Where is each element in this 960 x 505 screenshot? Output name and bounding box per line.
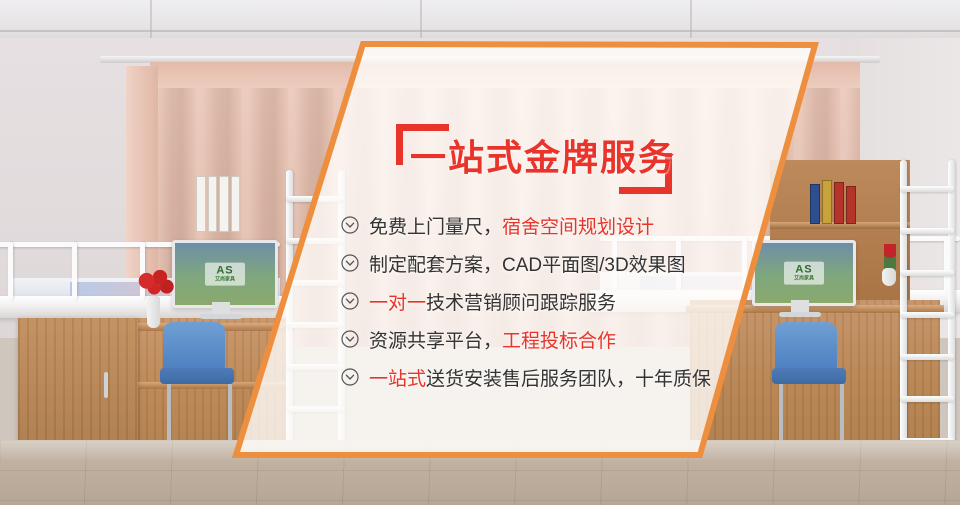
list-item-text: 一对一技术营销顾问跟踪服务 — [369, 288, 616, 315]
text-plain-suffix: 技术营销顾问跟踪服务 — [426, 293, 616, 314]
text-highlight: 一站式 — [369, 369, 426, 390]
page-title: 一站式金牌服务 — [410, 128, 676, 188]
list-item: 一站式送货安装售后服务团队，十年质保 — [340, 358, 760, 396]
promo-banner: AS 艾尚家具 AS 艾尚家具 — [0, 0, 960, 505]
list-item-text: 制定配套方案，CAD平面图/3D效果图 — [369, 250, 686, 277]
text-plain-suffix: 送货安装售后服务团队，十年质保 — [426, 369, 711, 390]
title-block: 一站式金牌服务 — [396, 124, 672, 194]
list-item: 资源共享平台，工程投标合作 — [340, 320, 760, 358]
service-list: 免费上门量尺，宿舍空间规划设计 制定配套方案，CAD平面图/3D效果图 — [340, 206, 760, 396]
chevron-down-circle-icon — [340, 215, 360, 235]
text-plain-prefix: 免费上门量尺， — [369, 217, 502, 238]
list-item-text: 免费上门量尺，宿舍空间规划设计 — [369, 212, 654, 239]
text-highlight: 一对一 — [369, 293, 426, 314]
list-item-text: 资源共享平台，工程投标合作 — [369, 326, 616, 353]
text-highlight: 工程投标合作 — [502, 331, 616, 352]
text-plain-prefix: 资源共享平台， — [369, 331, 502, 352]
chevron-down-circle-icon — [340, 329, 360, 349]
text-highlight: 宿舍空间规划设计 — [502, 217, 654, 238]
list-item-text: 一站式送货安装售后服务团队，十年质保 — [369, 364, 711, 391]
banner-content: 一站式金牌服务 免费上门量尺，宿舍空间规划设计 — [0, 0, 960, 505]
list-item: 免费上门量尺，宿舍空间规划设计 — [340, 206, 760, 244]
chevron-down-circle-icon — [340, 291, 360, 311]
list-item: 一对一技术营销顾问跟踪服务 — [340, 282, 760, 320]
list-item: 制定配套方案，CAD平面图/3D效果图 — [340, 244, 760, 282]
chevron-down-circle-icon — [340, 367, 360, 387]
chevron-down-circle-icon — [340, 253, 360, 273]
text-plain-prefix: 制定配套方案，CAD平面图/3D效果图 — [369, 255, 686, 276]
